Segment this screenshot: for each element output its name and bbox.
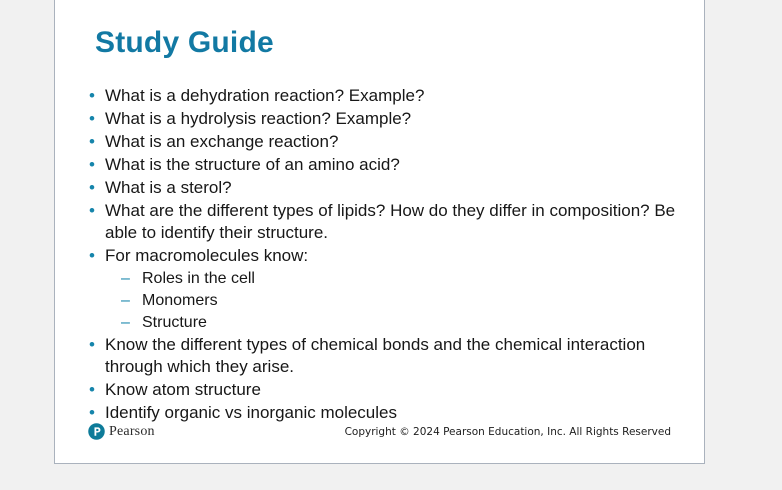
bullet-dot-icon: • [88, 85, 105, 107]
bullet-label: What are the different types of lipids? … [105, 200, 678, 244]
bullet-dot-icon: • [88, 402, 105, 424]
slide-footer: Pearson Copyright © 2024 Pearson Educati… [55, 423, 704, 445]
bullet-dot-icon: • [88, 154, 105, 176]
bullet-label: What is a hydrolysis reaction? Example? [105, 108, 678, 130]
study-guide-bullet-list: •What is a dehydration reaction? Example… [88, 85, 678, 425]
bullet-label: For macromolecules know: [105, 245, 678, 267]
bullet-label: Know the different types of chemical bon… [105, 334, 678, 378]
bullet-dot-icon: • [88, 334, 105, 356]
bullet-dash-icon: – [121, 268, 142, 289]
bullet-dot-icon: • [88, 379, 105, 401]
presentation-slide: Study Guide •What is a dehydration react… [54, 0, 705, 464]
bullet-item: •What is a dehydration reaction? Example… [88, 85, 678, 107]
pearson-logo: Pearson [88, 423, 155, 440]
sub-bullet-item: –Monomers [88, 290, 678, 311]
bullet-dot-icon: • [88, 131, 105, 153]
bullet-dot-icon: • [88, 177, 105, 199]
bullet-label: What is a sterol? [105, 177, 678, 199]
sub-bullet-item: –Structure [88, 312, 678, 333]
bullet-item: •What is the structure of an amino acid? [88, 154, 678, 176]
bullet-item: •For macromolecules know: [88, 245, 678, 267]
screenshot-canvas: Study Guide •What is a dehydration react… [0, 0, 782, 490]
page-title: Study Guide [95, 26, 274, 60]
bullet-label: What is the structure of an amino acid? [105, 154, 678, 176]
bullet-item: •What are the different types of lipids?… [88, 200, 678, 244]
bullet-label: Identify organic vs inorganic molecules [105, 402, 678, 424]
sub-bullet-item: –Roles in the cell [88, 268, 678, 289]
bullet-label: Know atom structure [105, 379, 678, 401]
bullet-label: What is an exchange reaction? [105, 131, 678, 153]
bullet-item: •Identify organic vs inorganic molecules [88, 402, 678, 424]
bullet-item: •Know the different types of chemical bo… [88, 334, 678, 378]
bullet-label: What is a dehydration reaction? Example? [105, 85, 678, 107]
bullet-label: Monomers [142, 290, 678, 311]
bullet-label: Structure [142, 312, 678, 333]
bullet-item: •What is a hydrolysis reaction? Example? [88, 108, 678, 130]
bullet-label: Roles in the cell [142, 268, 678, 289]
bullet-dot-icon: • [88, 108, 105, 130]
bullet-item: •Know atom structure [88, 379, 678, 401]
bullet-dash-icon: – [121, 312, 142, 333]
bullet-item: •What is a sterol? [88, 177, 678, 199]
pearson-p-logo-icon [88, 423, 105, 440]
bullet-dot-icon: • [88, 200, 105, 222]
bullet-item: •What is an exchange reaction? [88, 131, 678, 153]
pearson-logo-wordmark: Pearson [109, 423, 155, 440]
copyright-notice: Copyright © 2024 Pearson Education, Inc.… [345, 424, 671, 440]
bullet-dash-icon: – [121, 290, 142, 311]
bullet-dot-icon: • [88, 245, 105, 267]
